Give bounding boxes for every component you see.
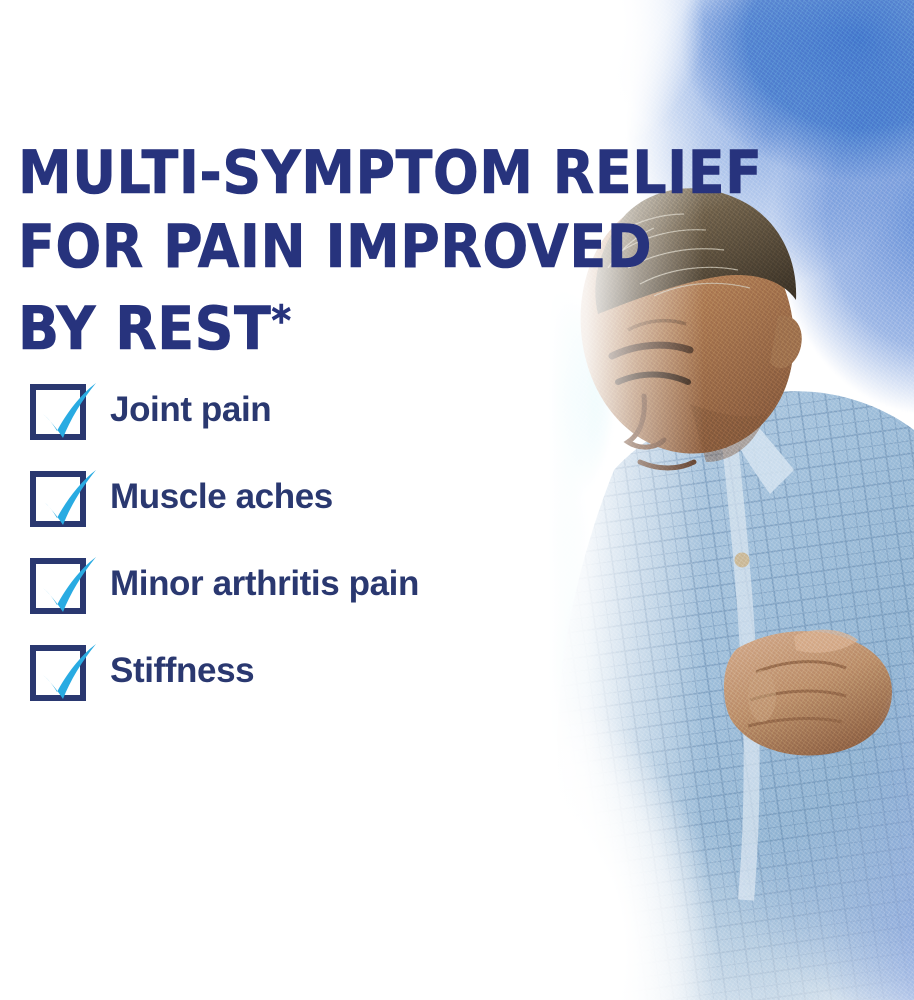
checklist-item-label: Joint pain [110,390,271,430]
footnote-asterisk: * [271,296,291,345]
headline-line-1: MULTI-SYMPTOM RELIEF [18,136,638,210]
symptom-checklist: Joint pain Muscle aches [30,382,630,730]
copy-column: MULTI-SYMPTOM RELIEF FOR PAIN IMPROVED B… [0,0,640,1000]
checkbox-checked-icon [30,386,88,444]
headline-line-2: FOR PAIN IMPROVED [18,210,638,284]
checklist-item-label: Minor arthritis pain [110,564,419,604]
checklist-item: Minor arthritis pain [30,556,630,643]
checklist-item: Joint pain [30,382,630,469]
product-benefit-banner: MULTI-SYMPTOM RELIEF FOR PAIN IMPROVED B… [0,0,914,1000]
checklist-item: Muscle aches [30,469,630,556]
checklist-item-label: Muscle aches [110,477,333,517]
checklist-item: Stiffness [30,643,630,730]
checkbox-checked-icon [30,560,88,618]
headline-line-3-text: BY REST [18,294,271,364]
checkbox-checked-icon [30,473,88,531]
headline-line-3: BY REST* [18,284,638,366]
checklist-item-label: Stiffness [110,651,254,691]
checkbox-checked-icon [30,647,88,705]
headline: MULTI-SYMPTOM RELIEF FOR PAIN IMPROVED B… [18,136,638,366]
